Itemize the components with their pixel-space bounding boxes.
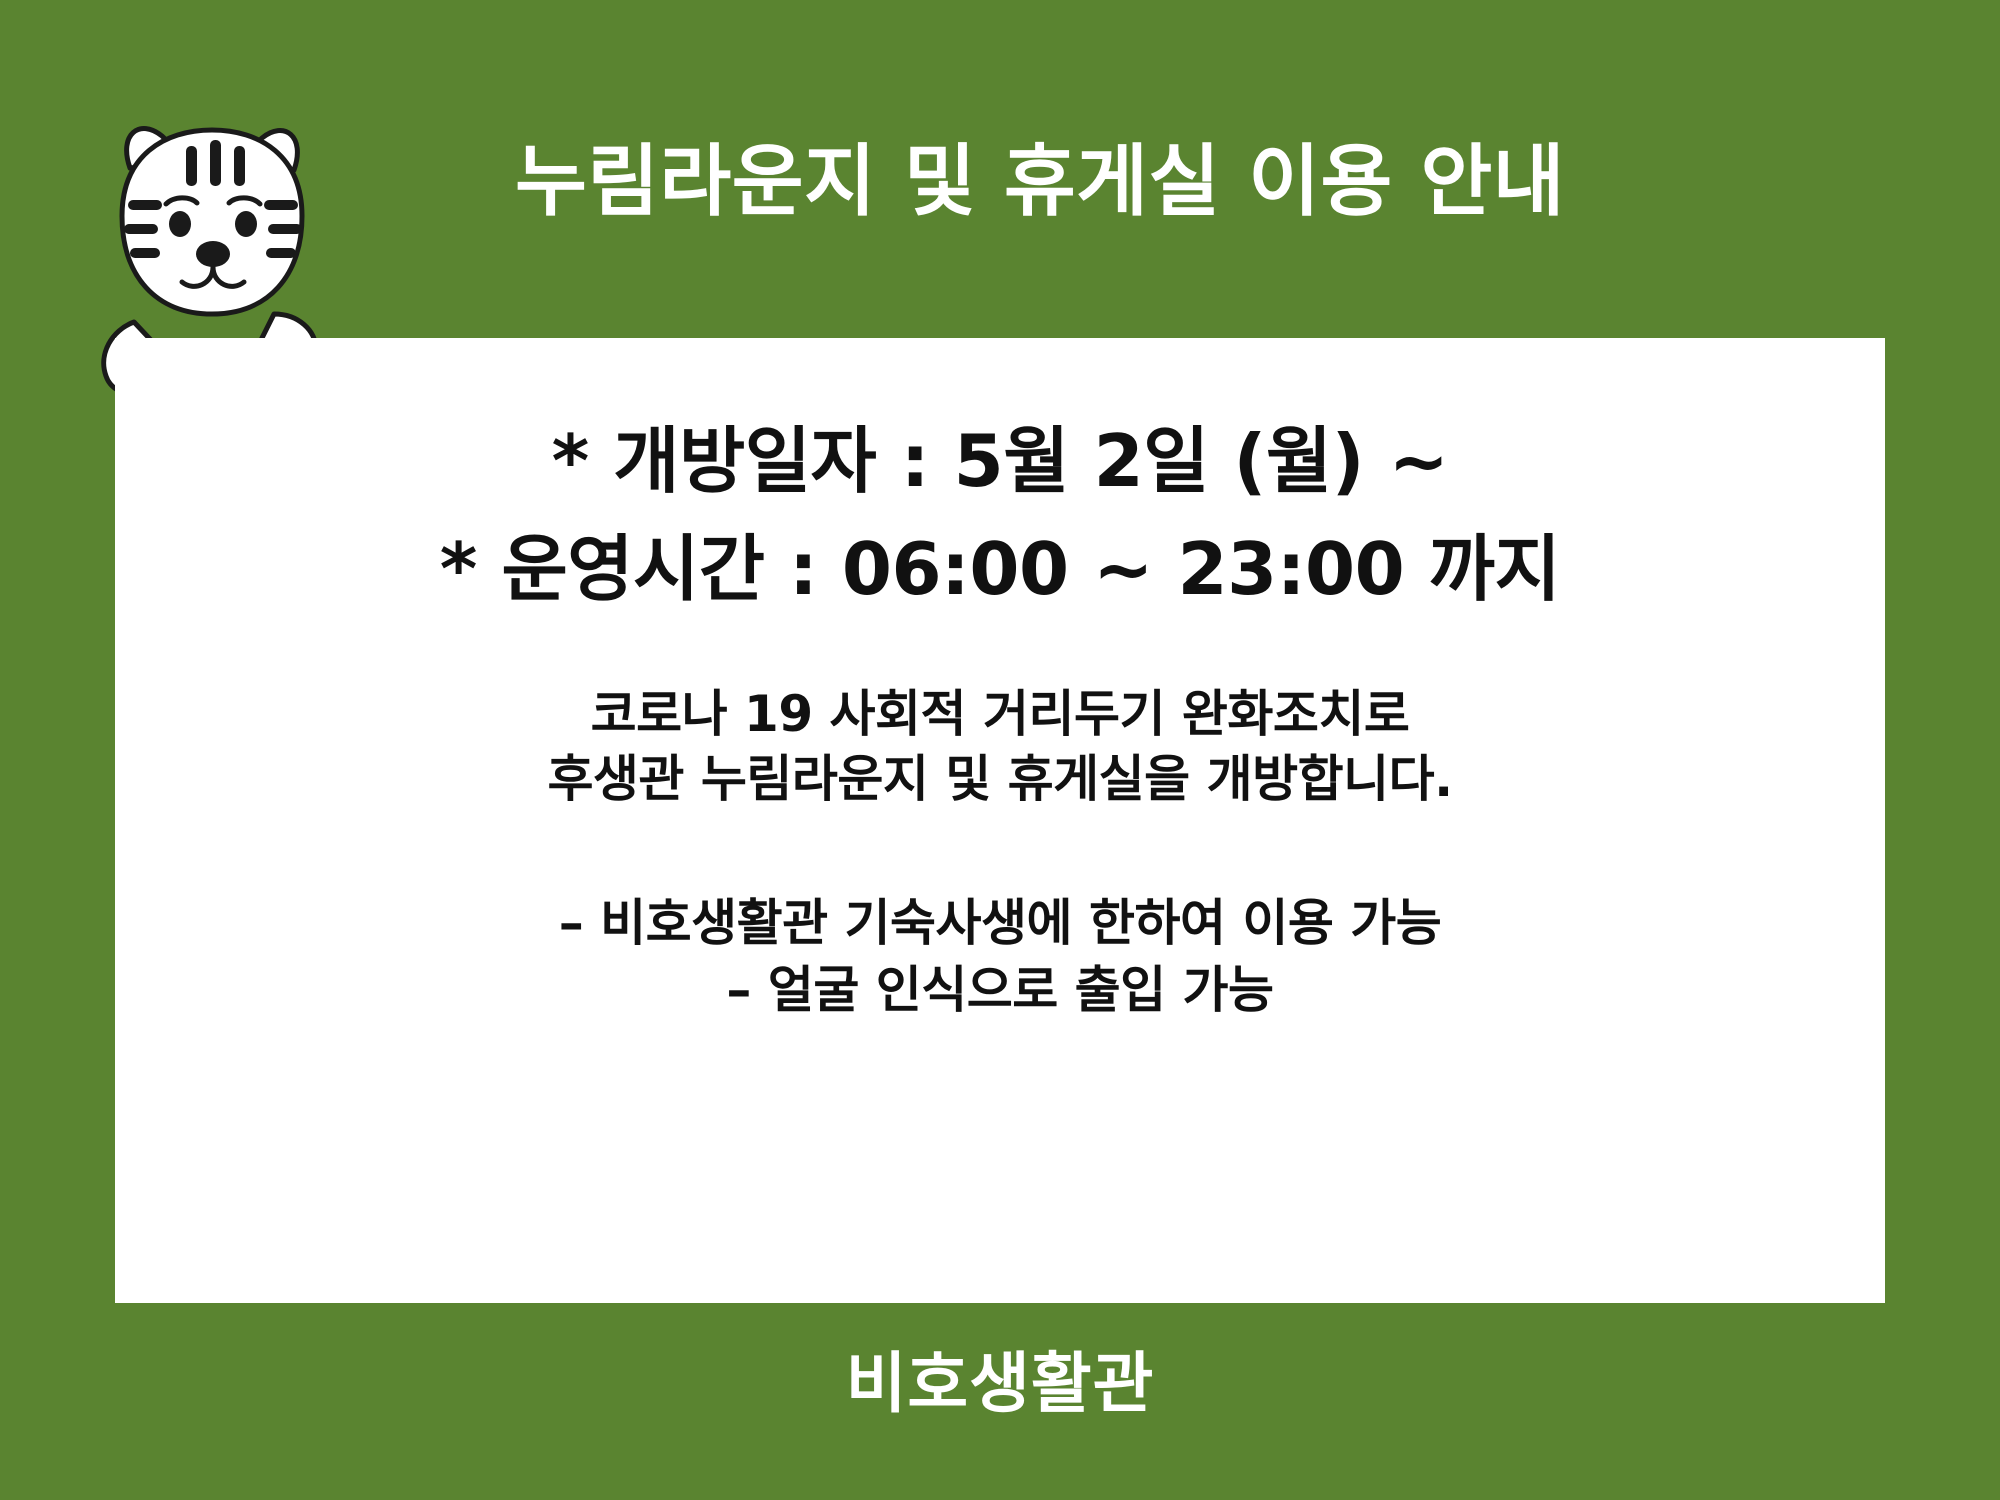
notice-body-line-1: 코로나 19 사회적 거리두기 완화조치로 — [547, 682, 1452, 747]
notice-note-line-1: – 비호생활관 기숙사생에 한하여 이용 가능 — [559, 890, 1442, 957]
notice-headline-open-date: * 개방일자 : 5월 2일 (월) ~ — [552, 410, 1449, 512]
page-title: 누림라운지 및 휴게실 이용 안내 — [330, 142, 1750, 224]
notice-note-line-2: – 얼굴 인식으로 출입 가능 — [559, 957, 1442, 1024]
notice-panel: * 개방일자 : 5월 2일 (월) ~ * 운영시간 : 06:00 ~ 23… — [115, 338, 1885, 1303]
poster-root: 누림라운지 및 휴게실 이용 안내 * 개방일자 : 5월 2일 (월) ~ *… — [0, 0, 2000, 1500]
notice-body-line-2: 후생관 누림라운지 및 휴게실을 개방합니다. — [547, 747, 1452, 812]
notice-body: 코로나 19 사회적 거리두기 완화조치로 후생관 누림라운지 및 휴게실을 개… — [547, 682, 1452, 812]
footer-organization-name: 비호생활관 — [0, 1330, 2000, 1426]
notice-notes: – 비호생활관 기숙사생에 한하여 이용 가능 – 얼굴 인식으로 출입 가능 — [559, 890, 1442, 1024]
notice-headline-operating-hours: * 운영시간 : 06:00 ~ 23:00 까지 — [440, 518, 1560, 620]
